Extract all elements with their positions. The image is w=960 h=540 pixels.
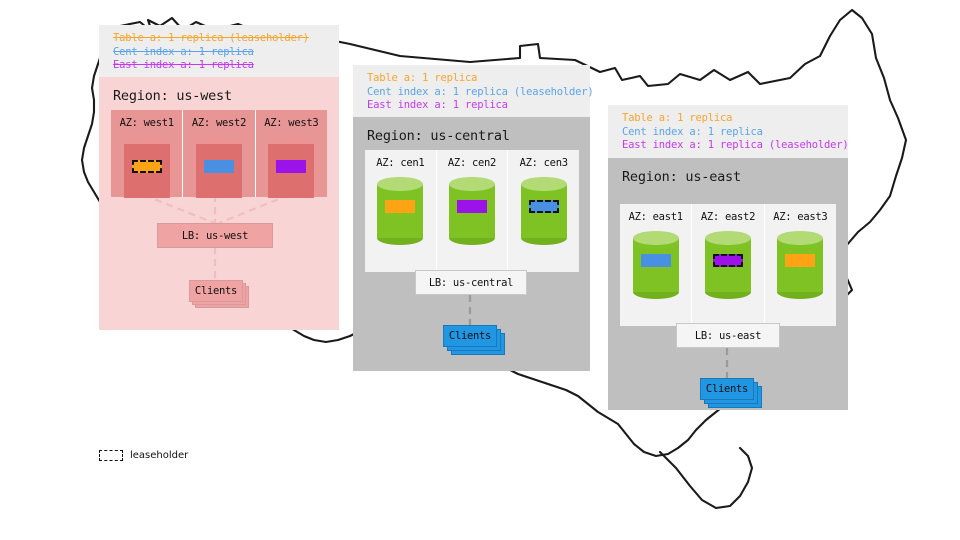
node-cylinder[interactable] xyxy=(633,231,679,299)
az-label: AZ: east1 xyxy=(620,204,691,223)
az-west2[interactable]: AZ: west2 xyxy=(182,110,254,197)
region-header-us-west: Table a: 1 replica (leaseholder) Cent in… xyxy=(99,25,339,77)
region-header-us-central: Table a: 1 replica Cent index a: 1 repli… xyxy=(353,65,590,117)
replica-chip-cent-index xyxy=(204,160,234,173)
az-west1[interactable]: AZ: west1 xyxy=(111,110,182,197)
legend-label: leaseholder xyxy=(130,450,188,461)
region-header-us-east: Table a: 1 replica Cent index a: 1 repli… xyxy=(608,105,848,158)
az-east2[interactable]: AZ: east2 xyxy=(691,204,763,326)
replica-line-table: Table a: 1 replica (leaseholder) xyxy=(113,32,327,46)
cylinder-top xyxy=(633,231,679,245)
clients-label-us-east[interactable]: Clients xyxy=(700,378,754,400)
node-cylinder[interactable] xyxy=(124,137,170,205)
node-cylinder[interactable] xyxy=(377,177,423,245)
region-body-us-east: Region: us-east AZ: east1 xyxy=(608,158,848,410)
az-label: AZ: cen1 xyxy=(365,150,436,169)
region-body-us-west: Region: us-west AZ: west1 xyxy=(99,77,339,330)
az-label: AZ: west2 xyxy=(183,110,254,129)
node-cylinder[interactable] xyxy=(705,231,751,299)
cylinder-top xyxy=(705,231,751,245)
az-east3[interactable]: AZ: east3 xyxy=(764,204,836,326)
cylinder-top xyxy=(449,177,495,191)
node-cylinder[interactable] xyxy=(196,137,242,205)
cylinder-top xyxy=(777,231,823,245)
region-body-us-central: Region: us-central AZ: cen1 xyxy=(353,117,590,371)
az-label: AZ: east2 xyxy=(692,204,763,223)
replica-chip-east-index-leaseholder xyxy=(713,254,743,267)
az-cen3[interactable]: AZ: cen3 xyxy=(507,150,579,272)
az-label: AZ: cen2 xyxy=(437,150,508,169)
az-strip-us-east: AZ: east1 AZ: east2 xyxy=(620,204,836,326)
load-balancer-us-central[interactable]: LB: us-central xyxy=(415,270,527,295)
region-panel-us-east: Table a: 1 replica Cent index a: 1 repli… xyxy=(608,105,848,410)
az-label: AZ: west1 xyxy=(111,110,182,129)
legend: leaseholder xyxy=(99,450,188,461)
az-cen1[interactable]: AZ: cen1 xyxy=(365,150,436,272)
clients-label-us-central[interactable]: Clients xyxy=(443,325,497,347)
node-cylinder[interactable] xyxy=(268,137,314,205)
replica-line-cent-index: Cent index a: 1 replica (leaseholder) xyxy=(367,86,578,100)
clients-stack-us-west[interactable]: Clients xyxy=(189,280,251,310)
replica-line-table: Table a: 1 replica xyxy=(367,72,578,86)
replica-line-table: Table a: 1 replica xyxy=(622,112,836,126)
replica-chip-table xyxy=(385,200,415,213)
cylinder-top xyxy=(521,177,567,191)
replica-line-cent-index: Cent index a: 1 replica xyxy=(622,126,836,140)
clients-label-us-west[interactable]: Clients xyxy=(189,280,243,302)
region-panel-us-central: Table a: 1 replica Cent index a: 1 repli… xyxy=(353,65,590,371)
az-strip-us-central: AZ: cen1 AZ: cen2 xyxy=(365,150,579,272)
replica-chip-east-index xyxy=(457,200,487,213)
az-strip-us-west: AZ: west1 AZ: west2 AZ xyxy=(111,110,327,197)
replica-chip-cent-index-leaseholder xyxy=(529,200,559,213)
replica-chip-table xyxy=(785,254,815,267)
node-cylinder[interactable] xyxy=(777,231,823,299)
dashed-rect-icon xyxy=(99,450,123,461)
load-balancer-us-east[interactable]: LB: us-east xyxy=(676,323,780,348)
az-east1[interactable]: AZ: east1 xyxy=(620,204,691,326)
az-cen2[interactable]: AZ: cen2 xyxy=(436,150,508,272)
az-label: AZ: cen3 xyxy=(508,150,579,169)
az-label: AZ: west3 xyxy=(256,110,327,129)
diagram-canvas: Table a: 1 replica (leaseholder) Cent in… xyxy=(0,0,960,540)
cylinder-top xyxy=(377,177,423,191)
clients-stack-us-central[interactable]: Clients xyxy=(443,325,509,357)
region-panel-us-west: Table a: 1 replica (leaseholder) Cent in… xyxy=(99,25,339,330)
replica-line-east-index: East index a: 1 replica xyxy=(367,99,578,113)
load-balancer-us-west[interactable]: LB: us-west xyxy=(157,223,273,248)
replica-chip-east-index xyxy=(276,160,306,173)
replica-line-cent-index: Cent index a: 1 replica xyxy=(113,46,327,60)
az-west3[interactable]: AZ: west3 xyxy=(255,110,327,197)
node-cylinder[interactable] xyxy=(449,177,495,245)
clients-stack-us-east[interactable]: Clients xyxy=(700,378,766,410)
replica-line-east-index: East index a: 1 replica xyxy=(113,59,327,73)
az-label: AZ: east3 xyxy=(765,204,836,223)
node-cylinder[interactable] xyxy=(521,177,567,245)
replica-line-east-index: East index a: 1 replica (leaseholder) xyxy=(622,139,836,153)
replica-chip-table-leaseholder xyxy=(132,160,162,173)
replica-chip-cent-index xyxy=(641,254,671,267)
